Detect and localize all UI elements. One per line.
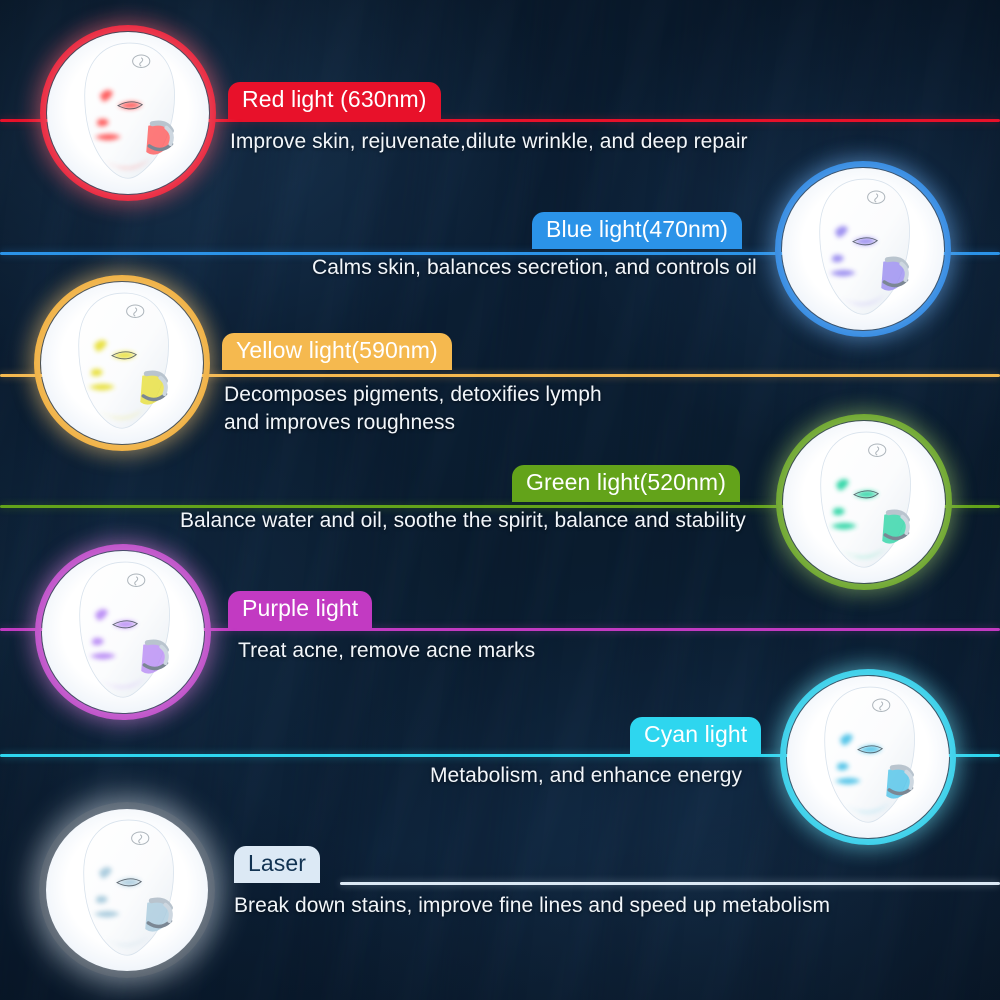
mode-label-green[interactable]: Green light(520nm) bbox=[512, 465, 740, 502]
mode-label-red[interactable]: Red light (630nm) bbox=[228, 82, 441, 119]
mode-label-purple[interactable]: Purple light bbox=[228, 591, 372, 628]
mask-photo-red bbox=[40, 25, 216, 201]
divider-line-laser bbox=[340, 882, 1000, 885]
led-face-mask-icon bbox=[59, 289, 189, 440]
led-face-mask-icon bbox=[60, 558, 190, 709]
mode-label-cyan[interactable]: Cyan light bbox=[630, 717, 761, 754]
mask-photo-blue bbox=[775, 161, 951, 337]
mode-description-green: Balance water and oil, soothe the spirit… bbox=[180, 507, 746, 535]
led-face-mask-icon bbox=[65, 39, 195, 190]
mode-label-blue[interactable]: Blue light(470nm) bbox=[532, 212, 742, 249]
mask-photo-laser bbox=[39, 802, 215, 978]
mode-description-laser: Break down stains, improve fine lines an… bbox=[234, 892, 830, 920]
led-face-mask-icon bbox=[805, 683, 935, 834]
mode-description-blue: Calms skin, balances secretion, and cont… bbox=[312, 254, 757, 282]
mask-photo-green bbox=[776, 414, 952, 590]
mask-photo-purple bbox=[35, 544, 211, 720]
led-face-mask-icon bbox=[800, 175, 930, 326]
mode-label-yellow[interactable]: Yellow light(590nm) bbox=[222, 333, 452, 370]
mask-photo-cyan bbox=[780, 669, 956, 845]
led-face-mask-icon bbox=[801, 428, 931, 579]
modes-list: Red light (630nm)Improve skin, rejuvenat… bbox=[0, 0, 1000, 1000]
mode-description-purple: Treat acne, remove acne marks bbox=[238, 637, 535, 665]
mode-description-red: Improve skin, rejuvenate,dilute wrinkle,… bbox=[230, 128, 748, 156]
led-face-mask-icon bbox=[64, 816, 194, 967]
mode-description-yellow: Decomposes pigments, detoxifies lymph an… bbox=[224, 381, 602, 438]
mode-label-laser[interactable]: Laser bbox=[234, 846, 320, 883]
mode-description-cyan: Metabolism, and enhance energy bbox=[430, 762, 742, 790]
mask-photo-yellow bbox=[34, 275, 210, 451]
